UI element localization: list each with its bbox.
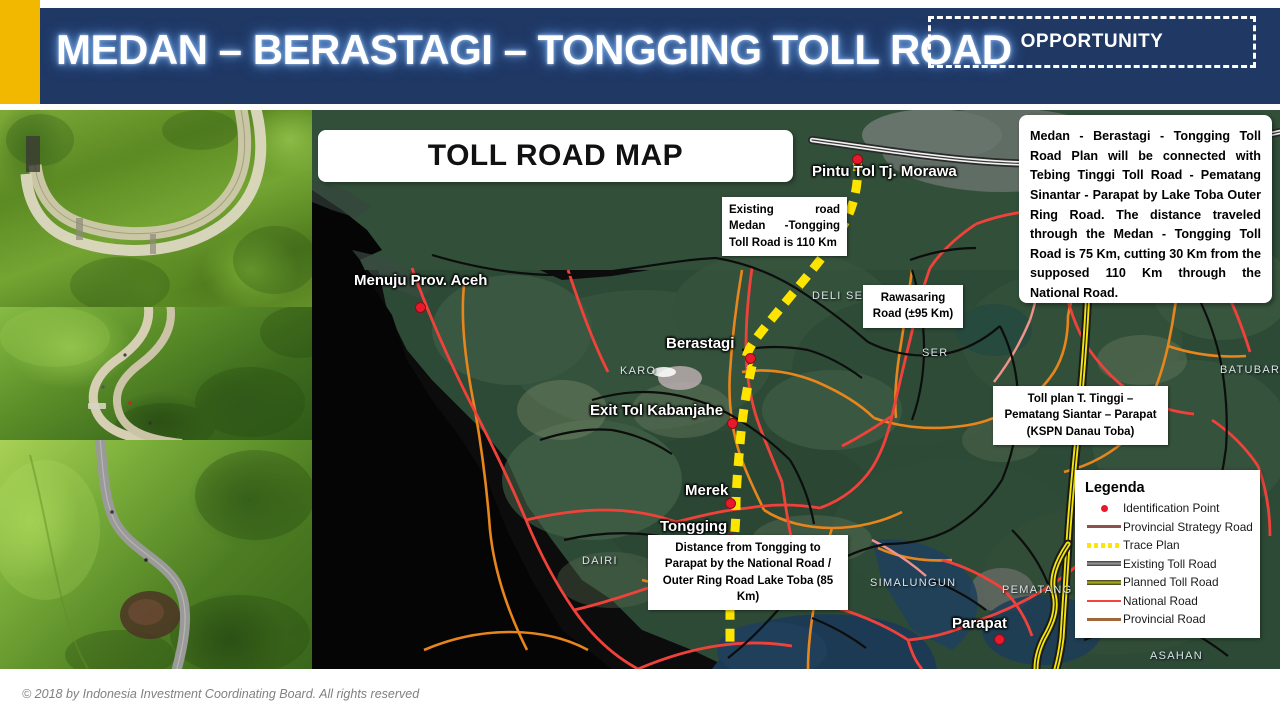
opportunity-badge: OPPORTUNITY bbox=[928, 16, 1256, 68]
legend-title: Legenda bbox=[1085, 480, 1252, 496]
point-exit-tol-kabanjahe bbox=[727, 418, 738, 429]
callout-rawasaring-road: Rawasaring Road (±95 Km) bbox=[863, 285, 963, 328]
trace-plan-icon bbox=[1085, 543, 1123, 548]
existing-toll-road-icon bbox=[1085, 561, 1123, 566]
planned-toll-road-icon bbox=[1085, 580, 1123, 585]
opportunity-badge-label: OPPORTUNITY bbox=[931, 19, 1253, 65]
provincial-road-icon bbox=[1085, 618, 1123, 621]
page-footer: © 2018 by Indonesia Investment Coordinat… bbox=[0, 669, 1280, 720]
legend-label: Trace Plan bbox=[1123, 538, 1180, 552]
legend-label: Existing Toll Road bbox=[1123, 557, 1217, 571]
city-label-parapat: Parapat bbox=[952, 615, 1007, 632]
photo-aerial-winding-road-valley bbox=[0, 440, 312, 669]
legend-row: Provincial Strategy Road bbox=[1085, 518, 1252, 537]
photo-strip bbox=[0, 110, 312, 669]
city-label-merek: Merek bbox=[685, 482, 728, 499]
photo-aerial-dual-carriageway-hills bbox=[0, 307, 312, 440]
callout-existing-road: Existing road Medan -Tongging Toll Road … bbox=[722, 197, 847, 256]
legend-row: Planned Toll Road bbox=[1085, 573, 1252, 592]
legend-row: Identification Point bbox=[1085, 499, 1252, 518]
toll-road-map[interactable]: DELI SERDANG KARO DAIRI SIMALUNGUN PEMAT… bbox=[312, 110, 1280, 669]
regency-label-asahan: ASAHAN bbox=[1150, 650, 1203, 662]
legend-row: Existing Toll Road bbox=[1085, 555, 1252, 574]
point-menuju-prov-aceh bbox=[415, 302, 426, 313]
city-label-exit-tol-kabanjahe: Exit Tol Kabanjahe bbox=[590, 402, 723, 419]
identification-point-icon bbox=[1085, 505, 1123, 512]
regency-label-batubara: BATUBARA bbox=[1220, 364, 1280, 376]
photo-3-road-overlay bbox=[0, 440, 312, 669]
page-title: MEDAN – BERASTAGI – TONGGING TOLL ROAD bbox=[56, 26, 1012, 74]
regency-label-simalungun: SIMALUNGUN bbox=[870, 577, 956, 589]
point-berastagi bbox=[745, 353, 756, 364]
legend-label: Provincial Strategy Road bbox=[1123, 520, 1253, 534]
header-accent-bar bbox=[0, 0, 40, 104]
regency-label-sergai: SER bbox=[922, 347, 949, 359]
legend-row: Provincial Road bbox=[1085, 610, 1252, 629]
regency-label-karo: KARO bbox=[620, 365, 656, 377]
page-header: MEDAN – BERASTAGI – TONGGING TOLL ROAD O… bbox=[0, 0, 1280, 104]
map-legend: Legenda Identification Point Provincial … bbox=[1075, 470, 1260, 638]
info-panel: Medan - Berastagi - Tongging Toll Road P… bbox=[1019, 115, 1272, 303]
legend-row: Trace Plan bbox=[1085, 536, 1252, 555]
info-panel-text: Medan - Berastagi - Tongging Toll Road P… bbox=[1030, 127, 1261, 304]
city-label-pintu-tol-tj-morawa: Pintu Tol Tj. Morawa bbox=[812, 163, 957, 180]
legend-label: Planned Toll Road bbox=[1123, 575, 1219, 589]
map-title-text: TOLL ROAD MAP bbox=[428, 139, 683, 173]
city-label-berastagi: Berastagi bbox=[666, 335, 734, 352]
regency-label-dairi: DAIRI bbox=[582, 555, 618, 567]
point-parapat bbox=[994, 634, 1005, 645]
callout-distance-tongging-parapat: Distance from Tongging to Parapat by the… bbox=[648, 535, 848, 610]
provincial-strategy-road-icon bbox=[1085, 525, 1123, 528]
city-label-tongging: Tongging bbox=[660, 518, 727, 535]
legend-label: Identification Point bbox=[1123, 501, 1219, 515]
legend-row: National Road bbox=[1085, 592, 1252, 611]
national-road-icon bbox=[1085, 600, 1123, 603]
photo-1-road-overlay bbox=[0, 110, 312, 307]
legend-label: Provincial Road bbox=[1123, 612, 1206, 626]
regency-label-pematang: PEMATANG bbox=[1002, 584, 1073, 596]
legend-label: National Road bbox=[1123, 594, 1198, 608]
callout-toll-plan: Toll plan T. Tinggi – Pematang Siantar –… bbox=[993, 386, 1168, 445]
photo-aerial-viaduct-forest bbox=[0, 110, 312, 307]
map-title-box: TOLL ROAD MAP bbox=[318, 130, 793, 182]
city-label-menuju-prov-aceh: Menuju Prov. Aceh bbox=[354, 272, 487, 289]
copyright-text: © 2018 by Indonesia Investment Coordinat… bbox=[22, 687, 419, 701]
photo-2-road-overlay bbox=[0, 307, 312, 440]
point-merek bbox=[725, 498, 736, 509]
